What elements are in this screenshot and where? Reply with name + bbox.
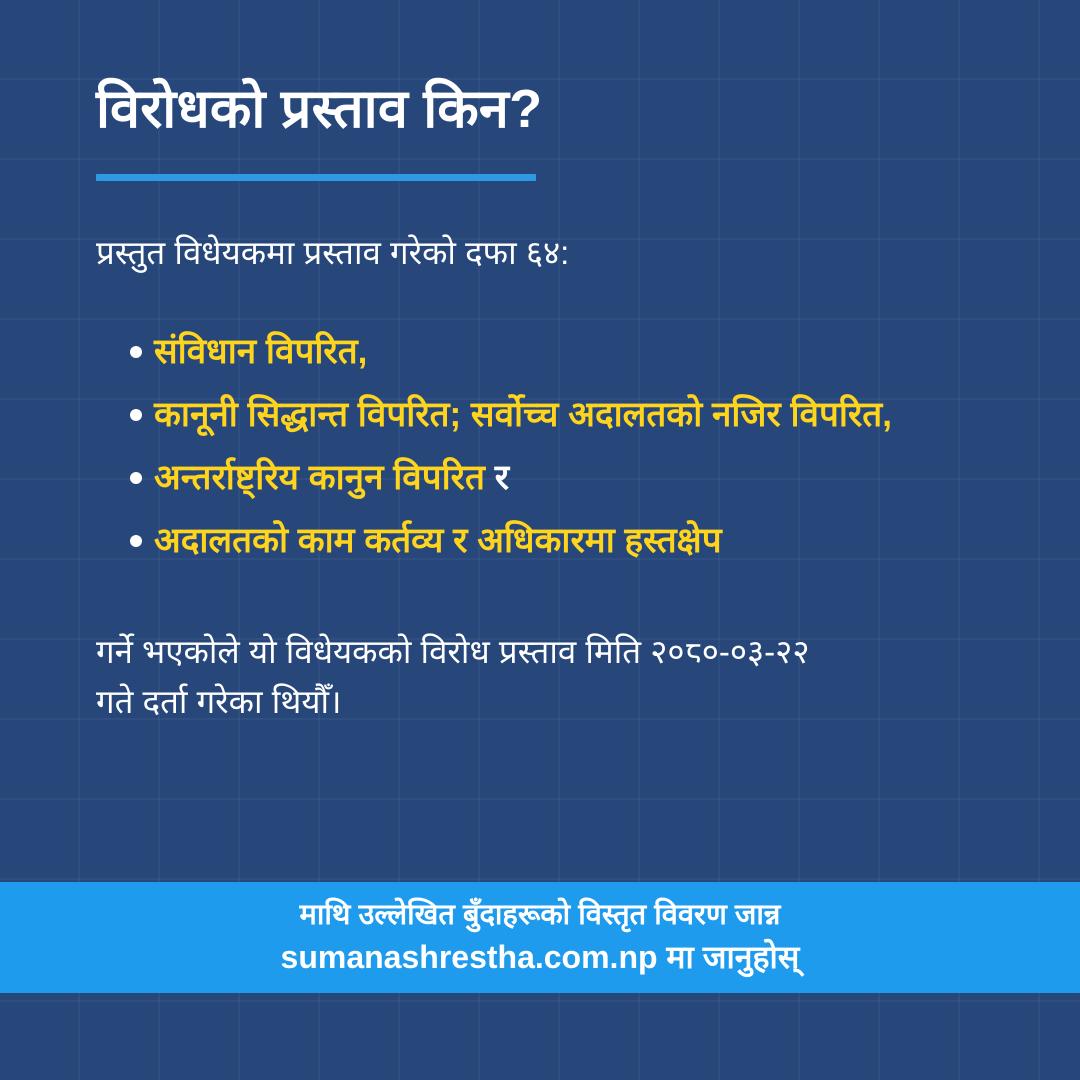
intro-paragraph: प्रस्तुत विधेयकमा प्रस्ताव गरेको दफा ६४: [96,231,994,276]
bottom-strip-grid-pattern [0,993,1080,1080]
footer-website-link[interactable]: sumanashrestha.com.np मा जानुहोस् [281,938,800,977]
footer-call-to-action-bar: माथि उल्लेखित बुँदाहरूको विस्तृत विवरण ज… [0,882,1080,993]
poster-card: विरोधको प्रस्ताव किन? प्रस्तुत विधेयकमा … [0,0,1080,1080]
bullet-dot-icon [130,346,142,358]
page-title: विरोधको प्रस्ताव किन? [96,78,994,142]
closing-paragraph: गर्ने भएकोले यो विधेयकको विरोध प्रस्ताव … [96,627,856,726]
content-column: विरोधको प्रस्ताव किन? प्रस्तुत विधेयकमा … [0,0,1080,882]
title-underline-rule [96,174,536,181]
list-item: अन्तर्राष्ट्रिय कानुन विपरित र [96,453,994,502]
bottom-strip [0,993,1080,1080]
list-item-label: अन्तर्राष्ट्रिय कानुन विपरित [154,458,485,497]
list-item: संविधान विपरित, [96,327,994,376]
list-item: कानूनी सिद्धान्त विपरित; सर्वोच्च अदालतक… [96,390,994,439]
list-item-label: संविधान विपरित, [154,332,367,371]
footer-instruction-text: माथि उल्लेखित बुँदाहरूको विस्तृत विवरण ज… [300,898,781,933]
list-item-label-tail: र [495,458,509,497]
bullet-dot-icon [130,472,142,484]
bullet-list: संविधान विपरित, कानूनी सिद्धान्त विपरित;… [96,327,994,565]
list-item-label: अदालतको काम कर्तव्य र अधिकारमा हस्तक्षेप [154,521,722,560]
list-item-label: कानूनी सिद्धान्त विपरित; सर्वोच्च अदालतक… [154,395,892,434]
bullet-dot-icon [130,409,142,421]
bullet-dot-icon [130,535,142,547]
list-item: अदालतको काम कर्तव्य र अधिकारमा हस्तक्षेप [96,516,994,565]
